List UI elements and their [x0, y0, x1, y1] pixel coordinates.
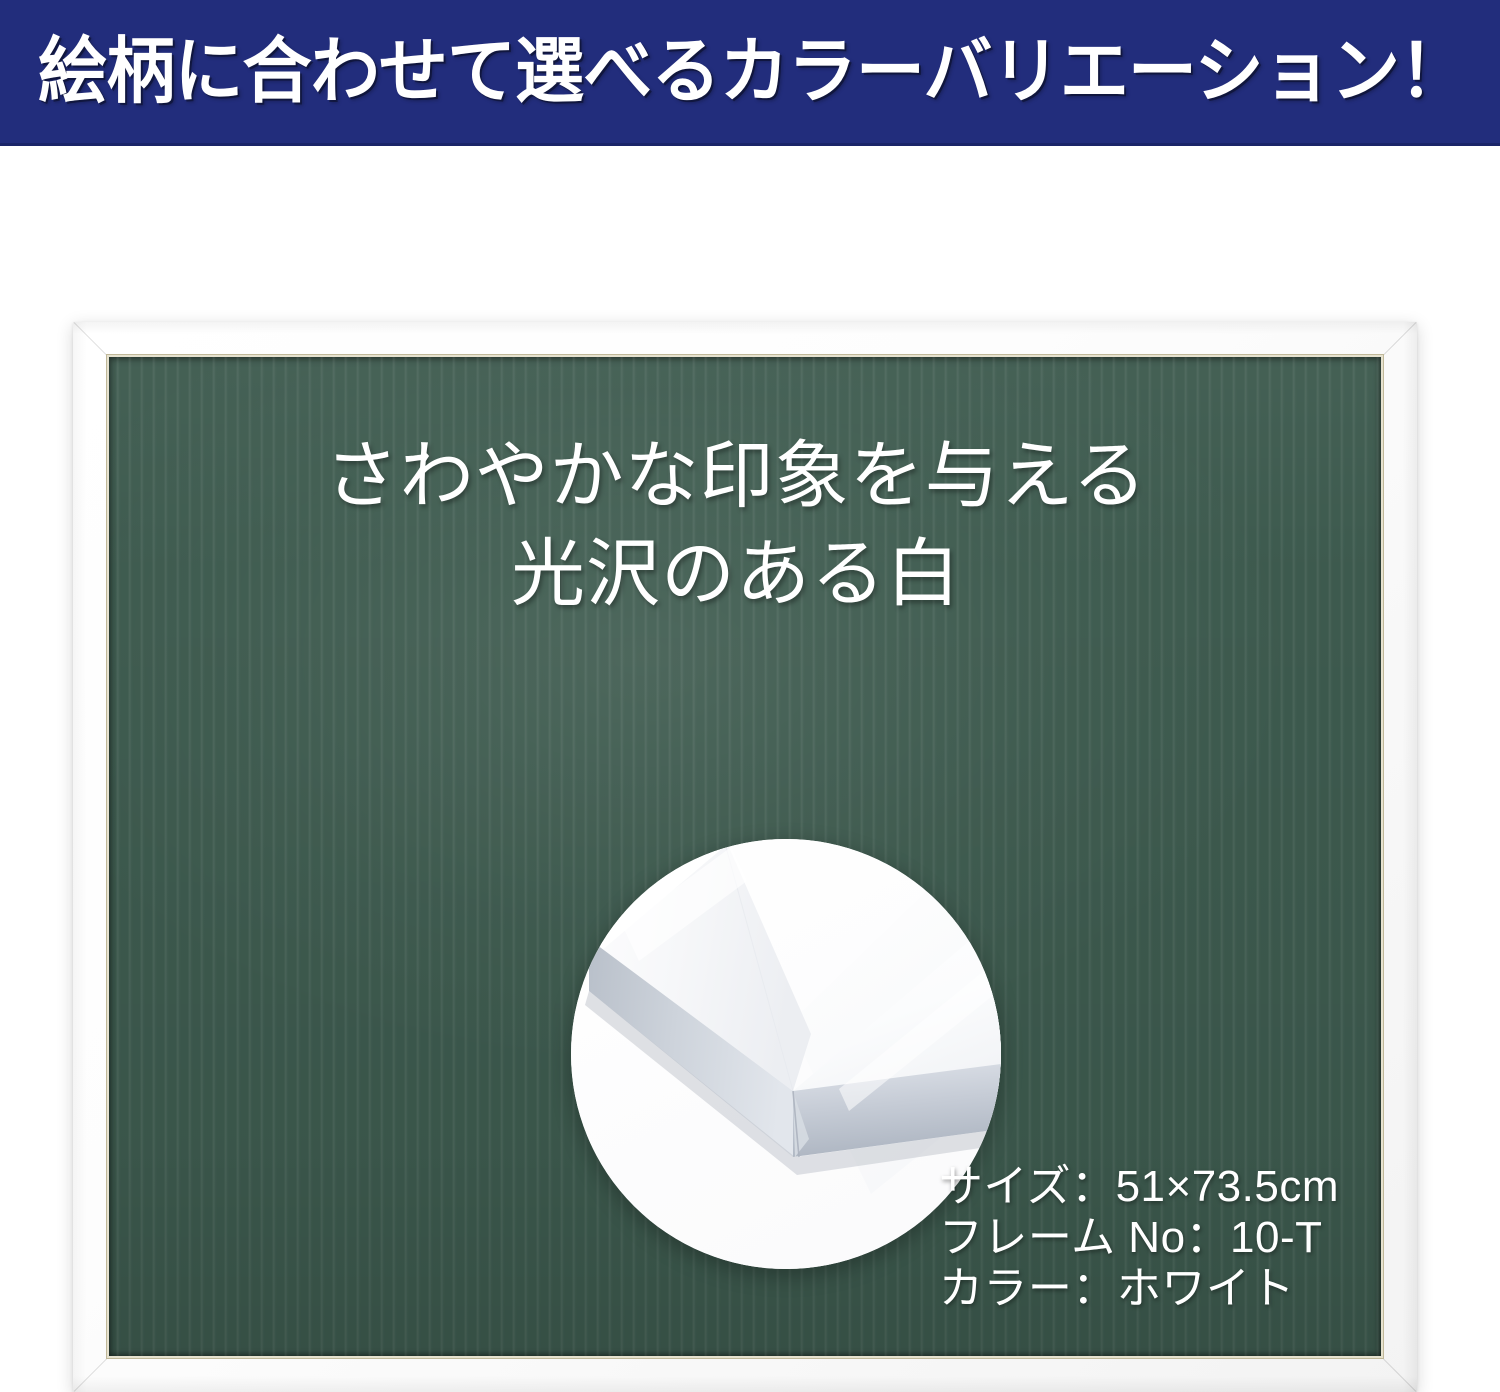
header-banner: 絵柄に合わせて選べるカラーバリエーション！: [0, 0, 1500, 146]
frame-corner-closeup-circle: [571, 839, 1001, 1269]
frame-inner-lip: さわやかな印象を与える 光沢のある白: [106, 354, 1384, 1359]
product-photo-stage: さわやかな印象を与える 光沢のある白: [0, 146, 1500, 1256]
board-headline-line-1: さわやかな印象を与える: [109, 427, 1363, 525]
green-board: さわやかな印象を与える 光沢のある白: [109, 357, 1381, 1356]
board-headline-line-2: 光沢のある白: [109, 525, 1363, 623]
spec-block: サイズ：51×73.5cm フレーム No：10-T カラー：ホワイト: [939, 1161, 1339, 1314]
spec-frame-no: フレーム No：10-T: [939, 1212, 1339, 1263]
board-headline: さわやかな印象を与える 光沢のある白: [109, 427, 1381, 622]
header-title: 絵柄に合わせて選べるカラーバリエーション！: [38, 36, 1467, 108]
frame-corner-photo-illustration: [571, 839, 1001, 1269]
spec-size: サイズ：51×73.5cm: [939, 1161, 1339, 1212]
picture-frame: さわやかな印象を与える 光沢のある白: [73, 322, 1417, 1392]
spec-color: カラー：ホワイト: [939, 1263, 1339, 1314]
